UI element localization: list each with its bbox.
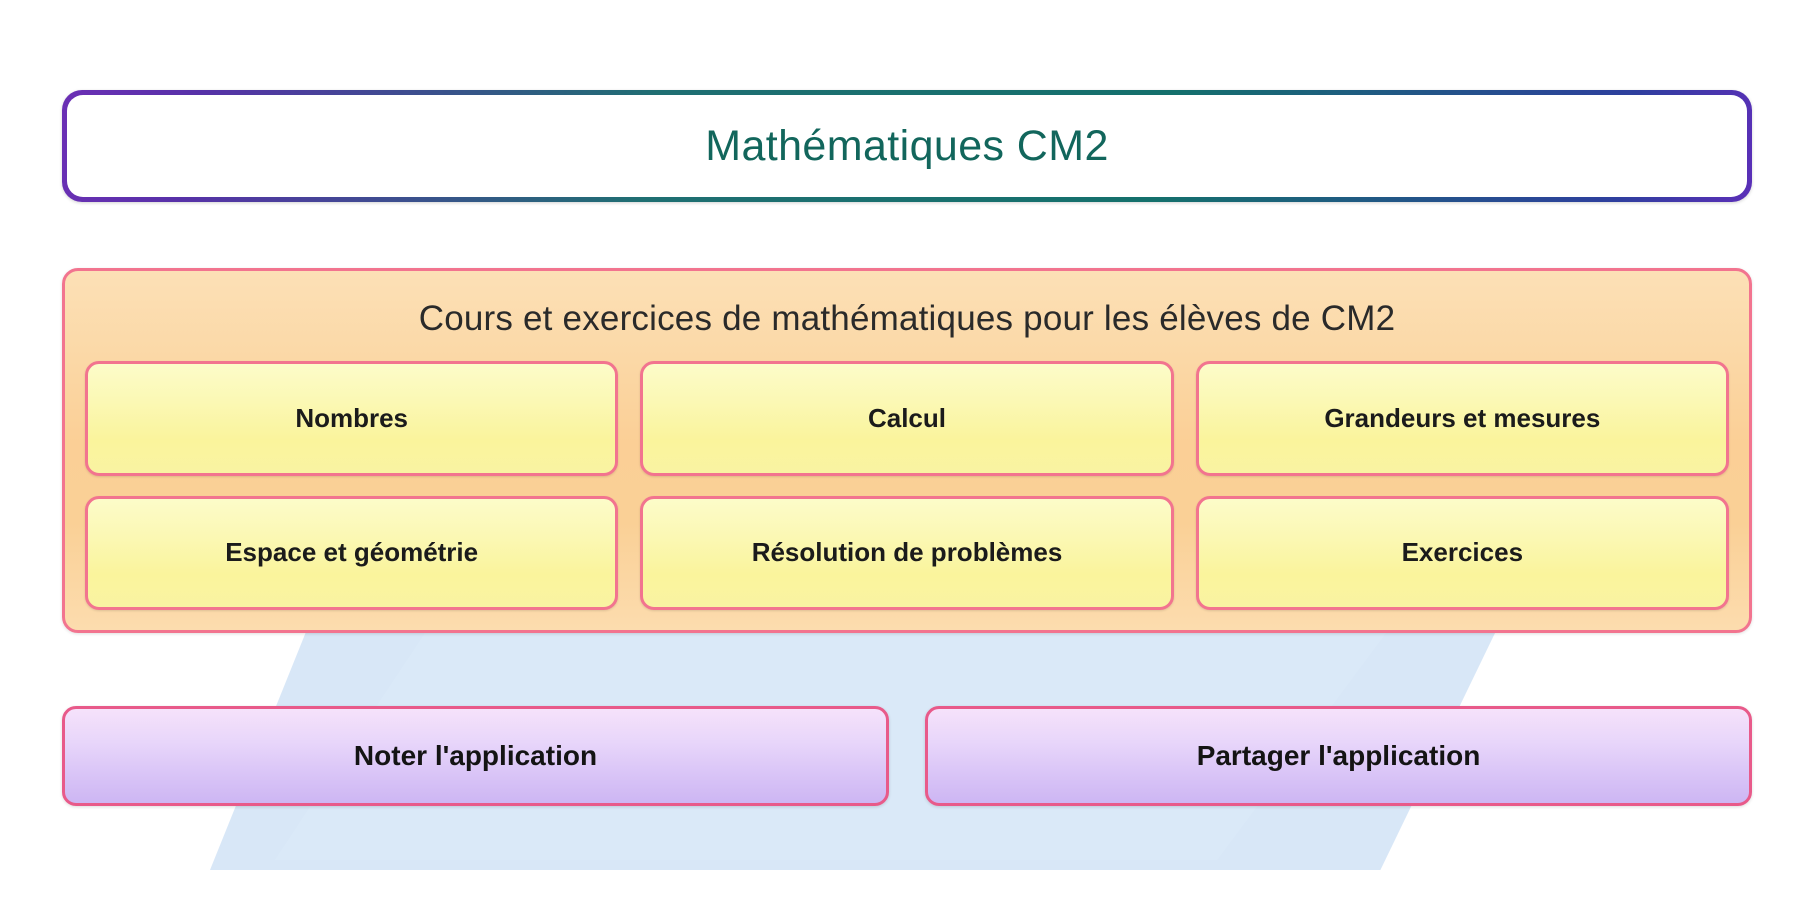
page-title: Mathématiques CM2 [705,122,1109,171]
category-button-espace-et-geometrie[interactable]: Espace et géométrie [85,496,618,611]
action-button-row: Noter l'application Partager l'applicati… [62,706,1752,806]
category-button-label: Exercices [1402,537,1523,568]
app-root: Mathématiques CM2 Cours et exercices de … [0,0,1800,900]
share-app-button[interactable]: Partager l'application [925,706,1752,806]
category-button-grandeurs-et-mesures[interactable]: Grandeurs et mesures [1196,361,1729,476]
share-app-button-label: Partager l'application [1197,740,1481,772]
category-button-nombres[interactable]: Nombres [85,361,618,476]
page-subtitle: Cours et exercices de mathématiques pour… [85,299,1729,339]
category-button-grid: Nombres Calcul Grandeurs et mesures Espa… [85,361,1729,610]
category-button-label: Grandeurs et mesures [1324,403,1600,434]
main-content-panel: Cours et exercices de mathématiques pour… [62,268,1752,633]
category-button-resolution-de-problemes[interactable]: Résolution de problèmes [640,496,1173,611]
category-button-exercices[interactable]: Exercices [1196,496,1729,611]
app-header-inner: Mathématiques CM2 [67,95,1747,197]
category-button-label: Calcul [868,403,946,434]
app-header-card: Mathématiques CM2 [62,90,1752,202]
category-button-label: Espace et géométrie [225,537,478,568]
category-button-label: Nombres [295,403,408,434]
rate-app-button-label: Noter l'application [354,740,597,772]
rate-app-button[interactable]: Noter l'application [62,706,889,806]
category-button-label: Résolution de problèmes [752,537,1063,568]
category-button-calcul[interactable]: Calcul [640,361,1173,476]
